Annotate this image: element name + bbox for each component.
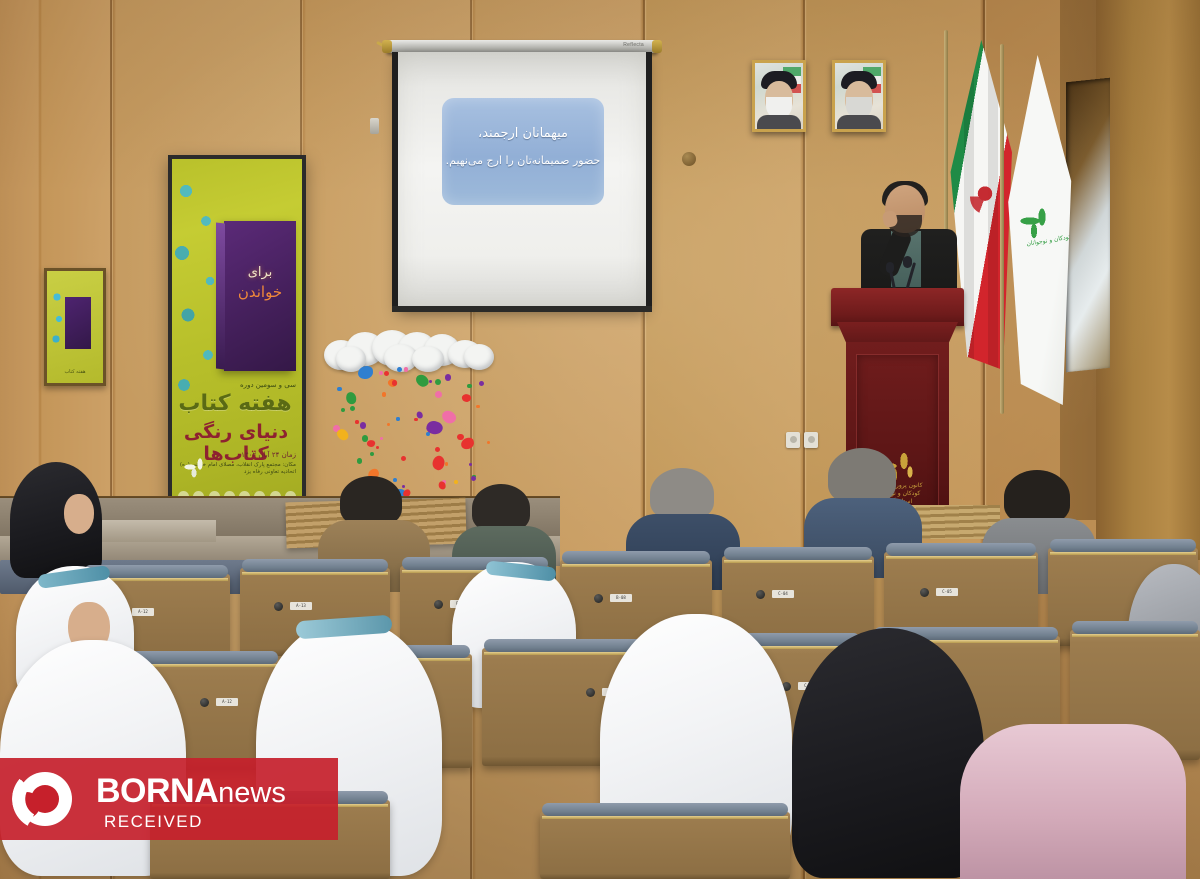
wall-outlet-icon	[786, 432, 800, 448]
banner-logo-icon	[182, 455, 208, 479]
wall-fixture-icon	[370, 118, 379, 134]
flag-pole	[1000, 44, 1004, 414]
butterfly-icon	[439, 481, 446, 489]
stage-step	[96, 520, 216, 542]
confetti-dot-icon	[355, 420, 359, 424]
confetti-dot-icon	[397, 367, 402, 372]
confetti-dot-icon	[487, 441, 490, 444]
watermark-brand-bold: BORNA	[96, 772, 218, 810]
photo-scene: Reflecta میهمانان ارجمند، حضور صمیمانه‌ت…	[0, 0, 1200, 879]
confetti-dot-icon	[337, 387, 342, 392]
slide-text-box: میهمانان ارجمند، حضور صمیمانه‌تان را ارج…	[442, 98, 604, 205]
confetti-dot-icon	[350, 406, 355, 411]
confetti-dot-icon	[357, 458, 363, 464]
confetti-dot-icon	[392, 380, 397, 385]
confetti-dot-icon	[376, 446, 379, 449]
seat-number-plate: A-12	[216, 698, 238, 706]
confetti-dot-icon	[435, 379, 441, 385]
screen-brand-label: Reflecta	[623, 42, 644, 48]
seat-knob-icon	[920, 588, 929, 597]
butterfly-icon	[460, 392, 472, 403]
seat-knob-icon	[274, 602, 283, 611]
microphone-icon	[886, 262, 894, 273]
wall-switch-icon	[804, 432, 818, 448]
butterfly-icon	[415, 372, 431, 388]
seat-knob-icon	[586, 688, 595, 697]
seat-knob-icon	[200, 698, 209, 707]
wall-knob-icon	[682, 152, 696, 166]
confetti-dot-icon	[429, 380, 432, 383]
confetti-dot-icon	[380, 437, 383, 440]
allah-emblem-icon	[970, 180, 1000, 214]
portrait-khamenei	[832, 60, 886, 132]
watermark-status: RECEIVED	[104, 812, 286, 832]
confetti-dot-icon	[414, 418, 418, 422]
butterfly-icon	[336, 427, 351, 442]
seat-number-plate: C-05	[936, 588, 958, 596]
confetti-dot-icon	[445, 374, 452, 381]
table-row[interactable]	[540, 812, 790, 879]
confetti-dot-icon	[382, 392, 386, 396]
seat-number-plate: C-04	[772, 590, 794, 598]
borna-swoosh-icon	[12, 768, 74, 830]
confetti-dot-icon	[404, 367, 409, 372]
confetti-dot-icon	[445, 462, 449, 466]
butterfly-icon	[358, 366, 373, 379]
confetti-dot-icon	[476, 405, 479, 408]
book-week-banner: برای خواندن سی و سومین دوره هفته کتاب دن…	[168, 155, 306, 555]
attendee-black-chador-right	[792, 628, 988, 879]
paper-cloud-icon	[324, 330, 496, 370]
portrait-khomeini	[752, 60, 806, 132]
confetti-dot-icon	[467, 384, 472, 389]
confetti-dot-icon	[435, 447, 440, 452]
attendee-pink-coat	[960, 724, 1190, 879]
confetti-dot-icon	[479, 381, 484, 386]
butterfly-icon	[366, 439, 376, 448]
watermark-brand: BORNAnews	[96, 772, 286, 812]
speaker-at-podium	[855, 185, 965, 305]
seat-number-plate: B-08	[610, 594, 632, 602]
seat-knob-icon	[756, 590, 765, 599]
confetti-dot-icon	[379, 371, 383, 375]
slide-line-1: میهمانان ارجمند،	[442, 126, 604, 141]
confetti-dot-icon	[387, 423, 390, 426]
projection-screen: میهمانان ارجمند، حضور صمیمانه‌تان را ارج…	[398, 52, 646, 307]
butterfly-icon	[416, 411, 423, 419]
microphone-icon	[903, 256, 912, 268]
banner-book-calligraphy-top: برای	[230, 265, 290, 280]
banner-title: هفته کتاب	[172, 391, 298, 416]
confetti-dot-icon	[384, 371, 389, 376]
seat-knob-icon	[594, 594, 603, 603]
confetti-dot-icon	[471, 476, 476, 481]
confetti-dot-icon	[435, 391, 442, 398]
borna-news-watermark: BORNAnews RECEIVED	[0, 758, 338, 840]
banner-pretitle: سی و سومین دوره	[172, 381, 296, 389]
banner-book-calligraphy-main: خواندن	[230, 283, 290, 301]
kanoon-bird-logo-icon: کانون پرورش فکری کودکان و نوجوانان	[1018, 205, 1058, 265]
seat-number-plate: A-13	[290, 602, 312, 610]
confetti-dot-icon	[396, 417, 399, 420]
confetti-dot-icon	[360, 422, 366, 428]
confetti-dot-icon	[341, 408, 345, 412]
butterfly-icon	[440, 408, 458, 426]
banner-book-graphic: برای خواندن	[224, 221, 296, 371]
confetti-dot-icon	[401, 456, 406, 461]
seat-knob-icon	[434, 600, 443, 609]
mini-poster-caption: هفته کتاب	[51, 369, 99, 375]
watermark-brand-light: news	[218, 777, 286, 809]
butterfly-icon	[346, 392, 356, 404]
confetti-dot-icon	[454, 480, 458, 484]
slide-line-2: حضور صمیمانه‌تان را ارج می‌نهیم.	[442, 154, 604, 167]
confetti-dot-icon	[370, 452, 374, 456]
framed-mini-poster: هفته کتاب	[44, 268, 106, 386]
confetti-dot-icon	[469, 463, 472, 466]
